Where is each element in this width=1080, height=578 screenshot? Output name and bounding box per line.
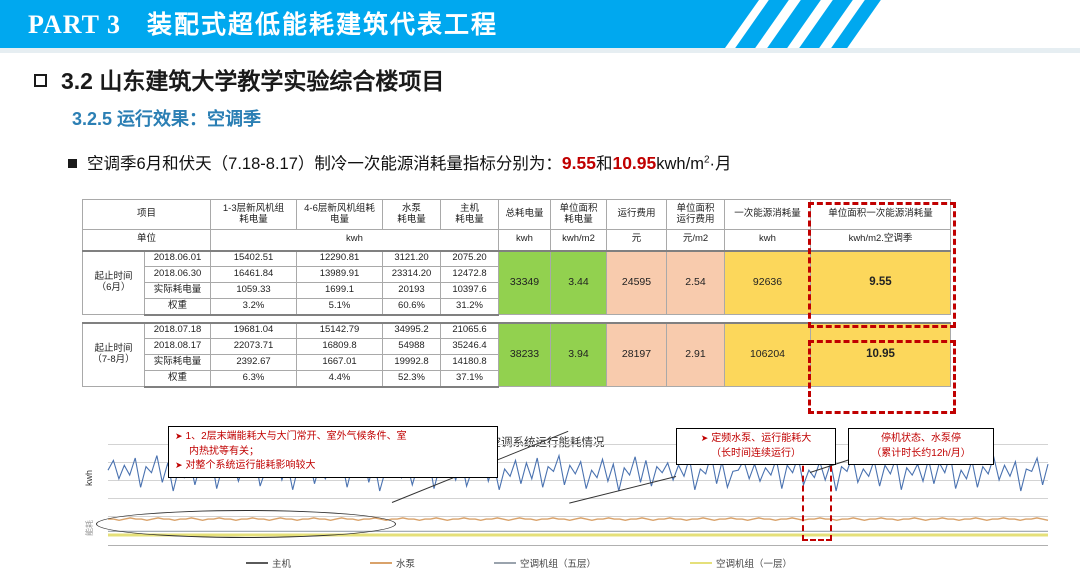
filled-square-bullet-icon xyxy=(68,159,77,168)
td-v2: 1667.01 xyxy=(297,355,383,371)
legend-swatch-chiller xyxy=(246,562,268,565)
td-v4: 31.2% xyxy=(441,299,499,315)
bullet-value-2: 10.95 xyxy=(612,153,656,173)
callout-stop-line-1: 停机状态、水泵停 xyxy=(855,432,987,447)
th-fresh-air-4-6: 4-6层新风机组耗电量 xyxy=(297,200,383,230)
td-v4: 2075.20 xyxy=(441,251,499,267)
td-v3: 19992.8 xyxy=(383,355,441,371)
th-per-area-primary: 单位面积一次能源消耗量 xyxy=(811,200,951,230)
td-row-name: 2018.06.01 xyxy=(145,251,211,267)
td-v4: 10397.6 xyxy=(441,283,499,299)
bullet-unit: kwh/m xyxy=(656,155,704,173)
td-cost-2: 28197 xyxy=(607,323,667,387)
callout-left-line-3: ➤对整个系统运行能耗影响较大 xyxy=(175,459,491,474)
td-row-name: 2018.07.18 xyxy=(145,323,211,339)
td-unit-primary: kwh xyxy=(725,230,811,251)
td-unit-per-area-kwh: kwh/m2 xyxy=(551,230,607,251)
td-per-area-primary-1: 9.55 xyxy=(811,251,951,315)
td-v3: 60.6% xyxy=(383,299,441,315)
energy-table-wrap: 项目 1-3层新风机组耗电量 4-6层新风机组耗电量 水泵耗电量 主机耗电量 总… xyxy=(82,199,951,388)
td-period-label-1: 起止时间（6月） xyxy=(83,251,145,315)
td-row-name: 2018.08.17 xyxy=(145,339,211,355)
td-v4: 37.1% xyxy=(441,371,499,387)
td-cost-1: 24595 xyxy=(607,251,667,315)
legend-label-pump: 水泵 xyxy=(396,556,415,570)
callout-left: ➤1、2层末端能耗大与大门常开、室外气候条件、室 内热扰等有关； ➤对整个系统运… xyxy=(168,426,498,478)
header-title: PART 3装配式超低能耗建筑代表工程 xyxy=(28,5,498,45)
td-row-name: 2018.06.30 xyxy=(145,267,211,283)
arrow-bullet-icon: ➤ xyxy=(175,460,183,470)
td-row-name: 权重 xyxy=(145,299,211,315)
callout-pump: ➤定频水泵、运行能耗大 （长时间连续运行） xyxy=(676,428,836,465)
callout-left-line-1: ➤1、2层末端能耗大与大门常开、室外气候条件、室 xyxy=(175,430,491,445)
td-unit-total-kwh: kwh xyxy=(499,230,551,251)
section-subtitle: 3.2.5 运行效果：空调季 xyxy=(72,105,261,131)
td-v2: 12290.81 xyxy=(297,251,383,267)
td-v1: 3.2% xyxy=(211,299,297,315)
td-primary-1: 92636 xyxy=(725,251,811,315)
callout-stop-line-2: （累计时长约12h/月） xyxy=(855,447,987,462)
callout-pump-line-1: ➤定频水泵、运行能耗大 xyxy=(683,432,829,447)
legend-label-ahu-5f: 空调机组（五层） xyxy=(520,556,596,570)
td-v3: 54988 xyxy=(383,339,441,355)
table-row: 起止时间（6月） 2018.06.01 15402.51 12290.81 31… xyxy=(83,251,951,267)
arrow-bullet-icon: ➤ xyxy=(701,433,709,443)
legend-item-ahu-5f: 空调机组（五层） xyxy=(494,556,596,570)
td-per-area-cost-2: 2.91 xyxy=(667,323,725,387)
section-title-text: 3.2 山东建筑大学教学实验综合楼项目 xyxy=(61,68,444,94)
td-v3: 20193 xyxy=(383,283,441,299)
bullet-line: 空调季6月和伏天（7.18-8.17）制冷一次能源消耗量指标分别为：9.55和1… xyxy=(68,150,732,174)
table-gap-cell xyxy=(83,315,951,323)
td-period-label-2: 起止时间（7-8月） xyxy=(83,323,145,387)
td-v1: 1059.33 xyxy=(211,283,297,299)
bullet-value-1: 9.55 xyxy=(562,153,596,173)
td-unit-cost: 元 xyxy=(607,230,667,251)
td-v1: 6.3% xyxy=(211,371,297,387)
legend-swatch-ahu-5f xyxy=(494,562,516,565)
legend-label-ahu-1f: 空调机组（一层） xyxy=(716,556,792,570)
td-per-area-primary-2: 10.95 xyxy=(811,323,951,387)
th-primary-energy: 一次能源消耗量 xyxy=(725,200,811,230)
legend-label-chiller: 主机 xyxy=(272,556,291,570)
slide-root: PART 3装配式超低能耗建筑代表工程 3.2 山东建筑大学教学实验综合楼项目 … xyxy=(0,0,1080,578)
legend-swatch-pump xyxy=(370,562,392,565)
td-v1: 19681.04 xyxy=(211,323,297,339)
legend-swatch-ahu-1f xyxy=(690,562,712,565)
td-v1: 15402.51 xyxy=(211,251,297,267)
energy-table: 项目 1-3层新风机组耗电量 4-6层新风机组耗电量 水泵耗电量 主机耗电量 总… xyxy=(82,199,951,388)
td-v3: 34995.2 xyxy=(383,323,441,339)
table-row: 起止时间（7-8月） 2018.07.18 19681.04 15142.79 … xyxy=(83,323,951,339)
th-total-kwh: 总耗电量 xyxy=(499,200,551,230)
bullet-joiner: 和 xyxy=(596,155,613,173)
td-per-area-kwh-1: 3.44 xyxy=(551,251,607,315)
chart-legend: 主机 水泵 空调机组（五层） 空调机组（一层） xyxy=(0,556,1080,576)
callout-pump-line-2: （长时间连续运行） xyxy=(683,447,829,462)
header-title-cn: 装配式超低能耗建筑代表工程 xyxy=(147,11,498,39)
square-bullet-icon xyxy=(34,74,47,87)
td-primary-2: 106204 xyxy=(725,323,811,387)
td-total-kwh-2: 38233 xyxy=(499,323,551,387)
th-item-l1: 项目 xyxy=(137,208,156,219)
td-v4: 14180.8 xyxy=(441,355,499,371)
td-v1: 22073.71 xyxy=(211,339,297,355)
td-row-name: 实际耗电量 xyxy=(145,283,211,299)
td-unit-label: 单位 xyxy=(83,230,211,251)
td-v3: 23314.20 xyxy=(383,267,441,283)
td-v4: 35246.4 xyxy=(441,339,499,355)
bullet-text: 空调季6月和伏天（7.18-8.17）制冷一次能源消耗量指标分别为： xyxy=(87,155,562,173)
th-per-area-cost: 单位面积运行费用 xyxy=(667,200,725,230)
section-title: 3.2 山东建筑大学教学实验综合楼项目 xyxy=(34,62,444,96)
td-per-area-cost-1: 2.54 xyxy=(667,251,725,315)
th-item: 项目 xyxy=(83,200,211,230)
td-v1: 2392.67 xyxy=(211,355,297,371)
td-v4: 12472.8 xyxy=(441,267,499,283)
header-part-label: PART 3 xyxy=(28,10,121,39)
td-v2: 16809.8 xyxy=(297,339,383,355)
td-unit-per-area-primary: kwh/m2.空调季 xyxy=(811,230,951,251)
th-fresh-air-1-3: 1-3层新风机组耗电量 xyxy=(211,200,297,230)
td-v3: 52.3% xyxy=(383,371,441,387)
td-v1: 16461.84 xyxy=(211,267,297,283)
table-unit-row: 单位 kwh kwh kwh/m2 元 元/m2 kwh kwh/m2.空调季 xyxy=(83,230,951,251)
table-gap-row xyxy=(83,315,951,323)
energy-chart: kwh 能耗 最热月空调系统运行能耗情况 ➤ xyxy=(0,424,1080,578)
series-line-pump xyxy=(108,518,1048,520)
slide-header: PART 3装配式超低能耗建筑代表工程 xyxy=(0,0,1080,48)
td-v2: 15142.79 xyxy=(297,323,383,339)
callout-left-line-2: 内热扰等有关； xyxy=(175,445,491,460)
td-unit-kwh-span: kwh xyxy=(211,230,499,251)
chart-y-axis-sublabel: 能耗 xyxy=(84,520,95,536)
td-row-name: 权重 xyxy=(145,371,211,387)
chart-y-axis-label: kwh xyxy=(84,470,94,486)
th-chiller: 主机耗电量 xyxy=(441,200,499,230)
td-unit-per-area-cost: 元/m2 xyxy=(667,230,725,251)
legend-item-chiller: 主机 xyxy=(246,556,291,570)
td-v2: 5.1% xyxy=(297,299,383,315)
header-underline xyxy=(0,48,1080,53)
td-v2: 13989.91 xyxy=(297,267,383,283)
td-v3: 3121.20 xyxy=(383,251,441,267)
table-header-row: 项目 1-3层新风机组耗电量 4-6层新风机组耗电量 水泵耗电量 主机耗电量 总… xyxy=(83,200,951,230)
th-cost: 运行费用 xyxy=(607,200,667,230)
legend-item-ahu-1f: 空调机组（一层） xyxy=(690,556,792,570)
legend-item-pump: 水泵 xyxy=(370,556,415,570)
th-per-area-kwh: 单位面积耗电量 xyxy=(551,200,607,230)
callout-stop: 停机状态、水泵停 （累计时长约12h/月） xyxy=(848,428,994,465)
td-v4: 21065.6 xyxy=(441,323,499,339)
td-row-name: 实际耗电量 xyxy=(145,355,211,371)
bullet-unit-tail: ·月 xyxy=(710,155,732,173)
td-v2: 4.4% xyxy=(297,371,383,387)
td-v2: 1699.1 xyxy=(297,283,383,299)
th-pump: 水泵耗电量 xyxy=(383,200,441,230)
td-per-area-kwh-2: 3.94 xyxy=(551,323,607,387)
td-total-kwh-1: 33349 xyxy=(499,251,551,315)
arrow-bullet-icon: ➤ xyxy=(175,431,183,441)
